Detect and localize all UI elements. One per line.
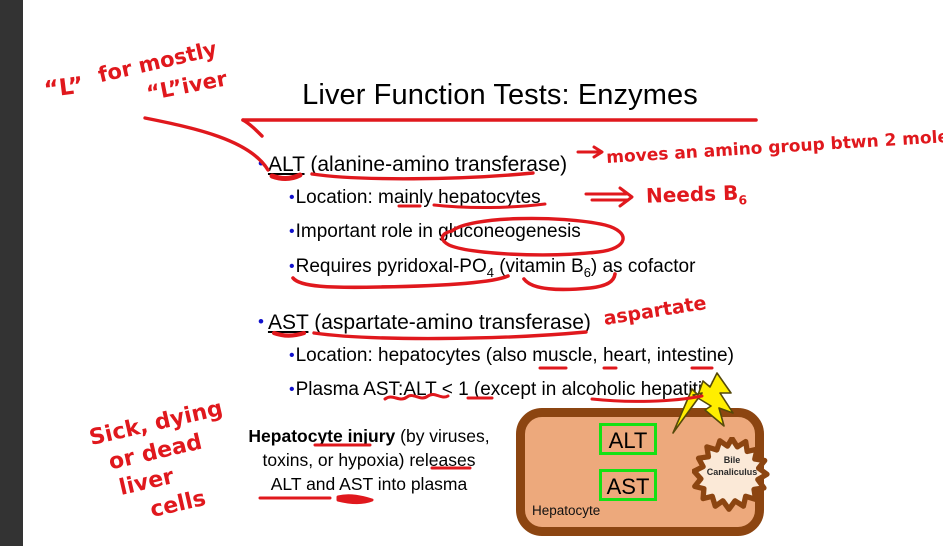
bullet-alt-cofactor-sub2: 6: [584, 265, 591, 280]
annotation-needs-b6-sub: 6: [738, 192, 747, 207]
hepatocyte-injury-caption: Hepatocyte injury (by viruses, toxins, o…: [228, 424, 510, 496]
page-title: Liver Function Tests: Enzymes: [250, 78, 750, 112]
plasma-arrow-mark: [338, 496, 372, 503]
enzyme-box-ast-label: AST: [607, 474, 650, 499]
slide-canvas: Liver Function Tests: Enzymes •ALT (alan…: [0, 0, 943, 546]
bullet-alt-gluconeogenesis: •Important role in gluconeogenesis: [289, 220, 581, 243]
bullet-ast-ratio: •Plasma AST:ALT < 1 (except in alcoholic…: [289, 378, 718, 401]
hepatocyte-cell-label: Hepatocyte: [532, 503, 600, 518]
injury-caption-line3: ALT and AST into plasma: [271, 474, 468, 494]
bullet-alt-gluconeogenesis-label: Important role in gluconeogenesis: [296, 221, 581, 242]
enzyme-box-alt-label: ALT: [609, 428, 648, 453]
lightning-bolt-icon: [671, 371, 741, 435]
bullet-ast: •AST (aspartate-amino transferase): [258, 309, 591, 335]
bullet-alt-cofactor: •Requires pyridoxal-PO4 (vitamin B6) as …: [289, 255, 695, 284]
enzyme-box-ast: AST: [599, 469, 657, 501]
amino-arrow-head: [594, 147, 602, 157]
injury-caption-line1: (by viruses,: [395, 426, 489, 446]
bullet-alt-cofactor-p1: Requires pyridoxal-PO: [296, 256, 487, 277]
injury-caption-line2: toxins, or hypoxia) releases: [262, 450, 475, 470]
bullet-ast-rest: (aspartate-amino transferase): [308, 311, 590, 334]
bullet-ast-location: •Location: hepatocytes (also muscle, hea…: [289, 344, 734, 367]
bullet-alt-cofactor-p2: (vitamin B: [494, 256, 584, 277]
enzyme-box-alt: ALT: [599, 423, 657, 455]
bile-canaliculus-line1: Bile: [724, 455, 741, 465]
bullet-alt-term: ALT: [268, 153, 305, 176]
bullet-alt: •ALT (alanine-amino transferase): [258, 151, 567, 177]
bullet-dot-icon: •: [289, 223, 295, 240]
bullet-ast-ratio-label: Plasma AST:ALT < 1 (except in alcoholic …: [296, 379, 718, 400]
annotation-aspartate: aspartate: [602, 292, 708, 330]
mnemonic-arrow: [145, 118, 268, 170]
bullet-dot-icon: •: [289, 189, 295, 206]
bile-canaliculus-line2: Canaliculus: [707, 467, 758, 477]
injury-caption-lead: Hepatocyte injury: [248, 426, 395, 446]
annotation-alt-function: moves an amino group btwn 2 molecules: [606, 124, 943, 168]
b6-arrow-head: [620, 188, 632, 206]
bullet-dot-icon: •: [258, 312, 264, 331]
annotation-needs-b6-text: Needs B: [646, 181, 739, 208]
bullet-dot-icon: •: [289, 347, 295, 364]
bullet-dot-icon: •: [289, 258, 295, 275]
bullet-dot-icon: •: [289, 381, 295, 398]
annotation-needs-b6: Needs B6: [646, 180, 748, 211]
viewer-left-rail: [0, 0, 23, 546]
bullet-alt-rest: (alanine-amino transferase): [305, 153, 568, 176]
bullet-alt-cofactor-sub1: 4: [487, 265, 494, 280]
bullet-ast-term: AST: [268, 311, 308, 334]
bullet-alt-location: •Location: mainly hepatocytes: [289, 186, 541, 209]
bullet-ast-location-label: Location: hepatocytes (also muscle, hear…: [296, 345, 734, 366]
bile-canaliculus-label: Bile Canaliculus: [692, 455, 772, 478]
bullet-dot-icon: •: [258, 154, 264, 173]
annotation-quote-l: “L”: [43, 73, 85, 104]
bullet-alt-cofactor-p3: ) as cofactor: [591, 256, 696, 277]
bullet-alt-location-label: Location: mainly hepatocytes: [296, 187, 541, 208]
